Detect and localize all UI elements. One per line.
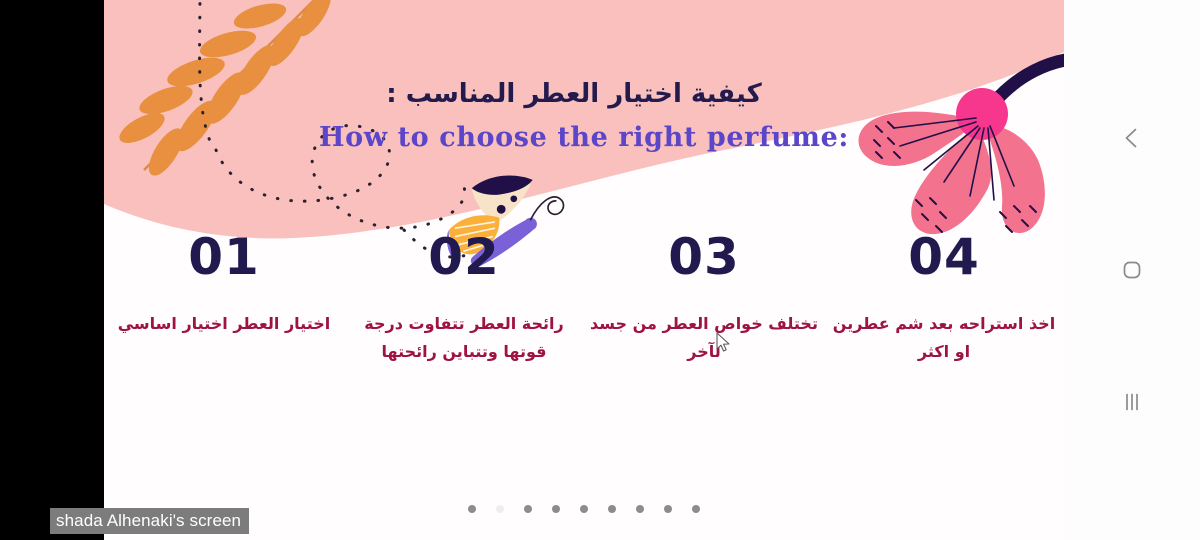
back-chevron-icon[interactable] — [1109, 115, 1155, 161]
step-number: 01 — [110, 232, 338, 282]
step-number: 04 — [830, 232, 1058, 282]
pagination-dot[interactable] — [664, 505, 672, 513]
pagination-dot[interactable] — [496, 505, 504, 513]
presentation-slide[interactable]: كيفية اختيار العطر المناسب : How to choo… — [104, 0, 1064, 540]
pagination-dot[interactable] — [552, 505, 560, 513]
step-number: 02 — [350, 232, 578, 282]
pagination-dot[interactable] — [608, 505, 616, 513]
pagination-dot[interactable] — [636, 505, 644, 513]
android-navigation-bar — [1064, 0, 1200, 540]
step-column-01: 01 اختيار العطر اختيار اساسي — [104, 232, 344, 338]
screen-share-label: shada Alhenaki's screen — [50, 508, 249, 534]
step-column-03: 03 تختلف خواص العطر من جسد لآخر — [584, 232, 824, 366]
step-text: تختلف خواص العطر من جسد لآخر — [590, 310, 818, 366]
recents-bars-icon[interactable] — [1109, 379, 1155, 425]
step-column-04: 04 اخذ استراحه بعد شم عطرين او اكثر — [824, 232, 1064, 366]
pagination-dot[interactable] — [692, 505, 700, 513]
home-square-icon[interactable] — [1109, 247, 1155, 293]
step-text: رائحة العطر تتفاوت درجة قوتها وتتباين را… — [350, 310, 578, 366]
step-text: اختيار العطر اختيار اساسي — [110, 310, 338, 338]
step-text: اخذ استراحه بعد شم عطرين او اكثر — [830, 310, 1058, 366]
pagination-dot[interactable] — [580, 505, 588, 513]
steps-row: 01 اختيار العطر اختيار اساسي 02 رائحة ال… — [104, 232, 1064, 432]
mouse-cursor — [716, 332, 732, 354]
pagination-dot[interactable] — [524, 505, 532, 513]
step-column-02: 02 رائحة العطر تتفاوت درجة قوتها وتتباين… — [344, 232, 584, 366]
step-number: 03 — [590, 232, 818, 282]
pagination-dot[interactable] — [468, 505, 476, 513]
screen-root: كيفية اختيار العطر المناسب : How to choo… — [0, 0, 1200, 540]
